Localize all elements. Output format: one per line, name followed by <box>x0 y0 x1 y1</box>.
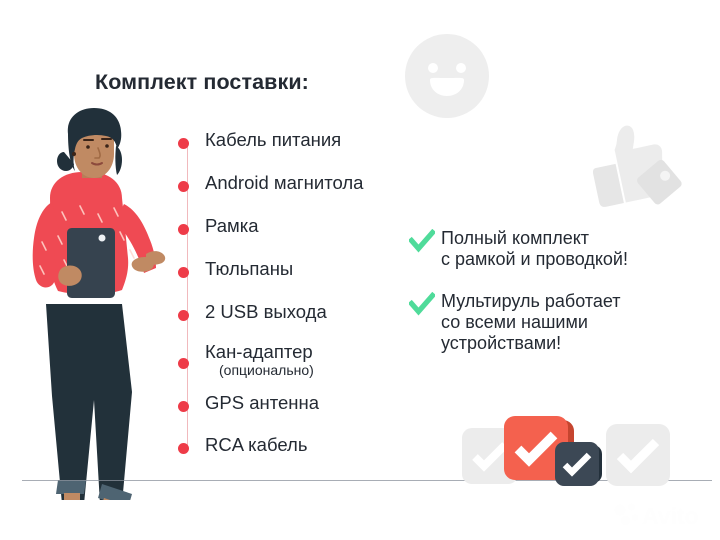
promo-banner: Комплект поставки: Кабель питания Androi… <box>0 0 720 540</box>
list-item-label: Тюльпаны <box>205 258 293 279</box>
checkbox-stack-icon <box>462 412 642 490</box>
checkbox-dark <box>555 442 599 486</box>
checkbox-grey-right <box>606 424 670 486</box>
list-item: RCA кабель <box>178 435 418 456</box>
benefit-line: Полный комплект <box>441 228 628 249</box>
avito-watermark: Avito <box>612 500 712 530</box>
benefit-text: Мультируль работает со всеми нашими устр… <box>441 291 621 355</box>
bullet-dot-icon <box>178 443 189 454</box>
list-item-label: GPS антенна <box>205 392 319 413</box>
benefit-item: Полный комплект с рамкой и проводкой! <box>409 228 628 270</box>
list-item: Кабель питания <box>178 130 418 151</box>
list-item: 2 USB выхода <box>178 302 418 323</box>
list-item: GPS антенна <box>178 393 418 414</box>
benefit-line: Мультируль работает <box>441 291 621 312</box>
benefit-line: с рамкой и проводкой! <box>441 249 628 270</box>
list-item-note: (опционально) <box>219 362 314 378</box>
list-item-label: RCA кабель <box>205 434 307 455</box>
page-title: Комплект поставки: <box>95 70 309 95</box>
bullet-dot-icon <box>178 224 189 235</box>
list-item-label: 2 USB выхода <box>205 301 327 322</box>
bullet-dot-icon <box>178 181 189 192</box>
woman-pointing-illustration <box>6 108 182 500</box>
list-item-label: Кан-адаптер <box>205 341 313 362</box>
list-item: Android магнитола <box>178 173 418 194</box>
list-item-label: Кабель питания <box>205 129 341 150</box>
list-item-label: Рамка <box>205 215 259 236</box>
green-check-icon <box>409 292 435 318</box>
benefit-line: устройствами! <box>441 333 621 354</box>
bullet-dot-icon <box>178 310 189 321</box>
list-item: Тюльпаны <box>178 259 418 280</box>
list-item: Кан-адаптер (опционально) <box>178 342 418 380</box>
benefit-line: со всеми нашими <box>441 312 621 333</box>
benefit-text: Полный комплект с рамкой и проводкой! <box>441 228 628 270</box>
bullet-dot-icon <box>178 267 189 278</box>
svg-text:Avito: Avito <box>642 503 699 529</box>
bullet-dot-icon <box>178 358 189 369</box>
list-item: Рамка <box>178 216 418 237</box>
green-check-icon <box>409 229 435 255</box>
bullet-dot-icon <box>178 401 189 412</box>
smiley-face-icon <box>403 32 491 120</box>
bullet-dot-icon <box>178 138 189 149</box>
thumbs-up-icon <box>578 108 690 220</box>
list-item-label: Android магнитола <box>205 172 363 193</box>
benefit-item: Мультируль работает со всеми нашими устр… <box>409 291 621 355</box>
